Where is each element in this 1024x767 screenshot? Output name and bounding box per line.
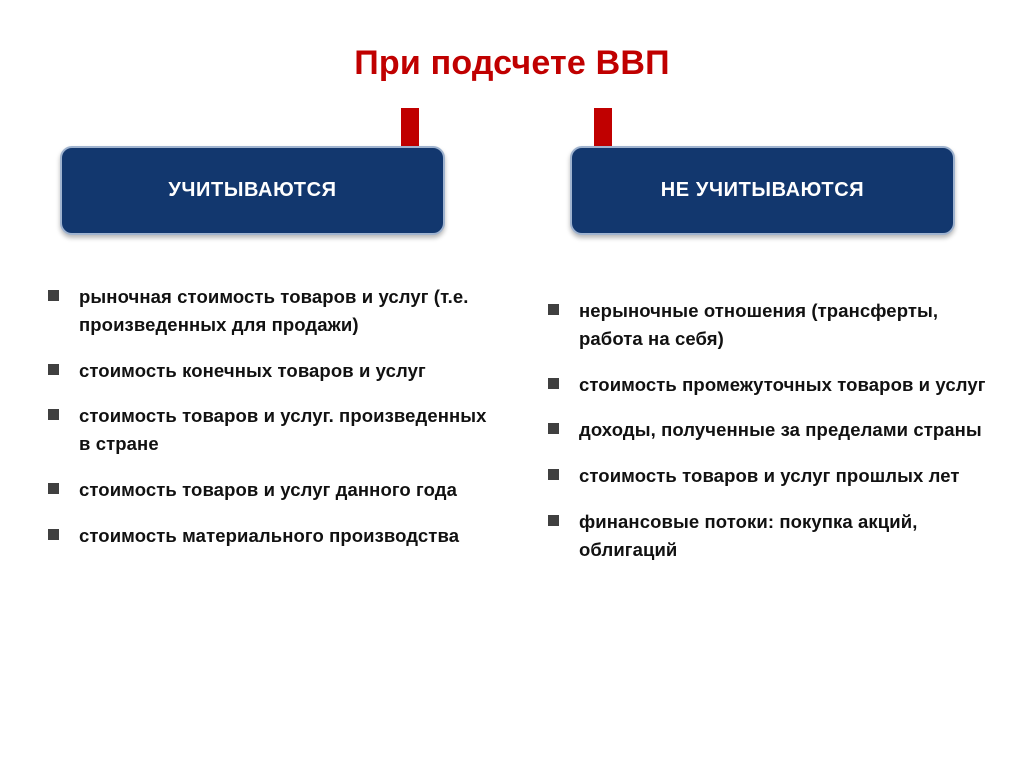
square-bullet-icon (548, 423, 559, 434)
square-bullet-icon (48, 529, 59, 540)
list-item: стоимость товаров и услуг прошлых лет (548, 462, 988, 490)
list-item-label: стоимость промежуточных товаров и услуг (579, 371, 986, 399)
list-item: рыночная стоимость товаров и услуг (т.е.… (48, 283, 498, 339)
list-item-label: нерыночные отношения (трансферты, работа… (579, 297, 988, 353)
square-bullet-icon (548, 304, 559, 315)
square-bullet-icon (548, 378, 559, 389)
list-item: финансовые потоки: покупка акций, облига… (548, 508, 988, 564)
list-item: доходы, полученные за пределами страны (548, 416, 988, 444)
column-header-excluded: НЕ УЧИТЫВАЮТСЯ (570, 146, 955, 235)
bullet-list-excluded: нерыночные отношения (трансферты, работа… (548, 297, 988, 581)
square-bullet-icon (548, 469, 559, 480)
square-bullet-icon (48, 409, 59, 420)
list-item-label: стоимость товаров и услуг. произведенных… (79, 402, 498, 458)
list-item: нерыночные отношения (трансферты, работа… (548, 297, 988, 353)
list-item-label: стоимость материального производства (79, 522, 459, 550)
list-item-label: стоимость товаров и услуг данного года (79, 476, 457, 504)
list-item-label: рыночная стоимость товаров и услуг (т.е.… (79, 283, 498, 339)
column-header-included: УЧИТЫВАЮТСЯ (60, 146, 445, 235)
bullet-list-included: рыночная стоимость товаров и услуг (т.е.… (48, 283, 498, 567)
list-item: стоимость промежуточных товаров и услуг (548, 371, 988, 399)
arrow-shaft (594, 108, 612, 150)
square-bullet-icon (48, 364, 59, 375)
list-item-label: стоимость товаров и услуг прошлых лет (579, 462, 960, 490)
list-item: стоимость материального производства (48, 522, 498, 550)
page-title: При подсчете ВВП (0, 44, 1024, 83)
square-bullet-icon (548, 515, 559, 526)
arrow-shaft (401, 108, 419, 150)
list-item-label: финансовые потоки: покупка акций, облига… (579, 508, 988, 564)
list-item-label: доходы, полученные за пределами страны (579, 416, 982, 444)
list-item-label: стоимость конечных товаров и услуг (79, 357, 426, 385)
list-item: стоимость конечных товаров и услуг (48, 357, 498, 385)
slide: При подсчете ВВП УЧИТЫВАЮТСЯ НЕ УЧИТЫВАЮ… (0, 0, 1024, 767)
list-item: стоимость товаров и услуг данного года (48, 476, 498, 504)
square-bullet-icon (48, 483, 59, 494)
list-item: стоимость товаров и услуг. произведенных… (48, 402, 498, 458)
square-bullet-icon (48, 290, 59, 301)
